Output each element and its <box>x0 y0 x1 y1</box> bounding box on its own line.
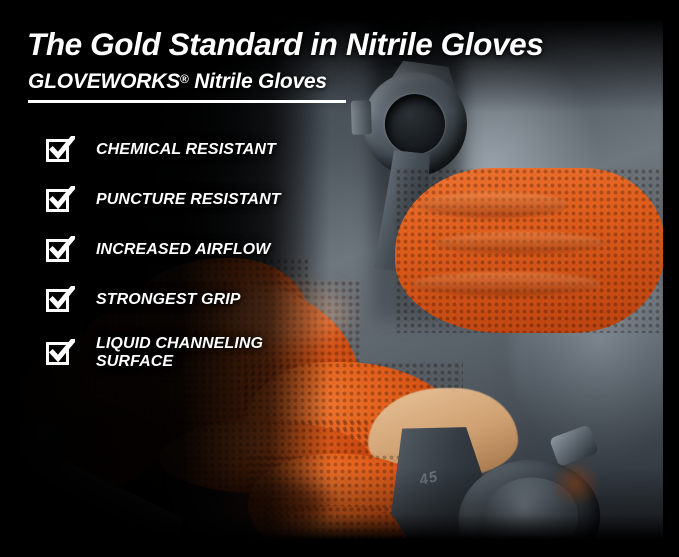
checked-checkbox-icon <box>46 339 75 368</box>
registered-trademark-icon: ® <box>180 72 189 86</box>
product-feature-banner: 45 The Gold Standard in Nitrile Gloves G… <box>0 0 679 557</box>
checkmark-icon <box>48 339 75 366</box>
list-item-label: LIQUID CHANNELING SURFACE <box>96 335 271 371</box>
list-item: STRONGEST GRIP <box>46 285 316 315</box>
brand-subtitle-group: GLOVEWORKS® Nitrile Gloves <box>28 70 346 103</box>
list-item-label: INCREASED AIRFLOW <box>96 241 270 259</box>
brand-subtitle-suffix: Nitrile Gloves <box>189 70 327 93</box>
banner-content: The Gold Standard in Nitrile Gloves GLOV… <box>0 0 679 557</box>
list-item: PUNCTURE RESISTANT <box>46 185 316 215</box>
brand-subtitle: GLOVEWORKS® Nitrile Gloves <box>28 70 346 94</box>
list-item: LIQUID CHANNELING SURFACE <box>46 335 316 371</box>
list-item: INCREASED AIRFLOW <box>46 235 316 265</box>
checkmark-icon <box>48 136 75 163</box>
checkmark-icon <box>48 236 75 263</box>
checked-checkbox-icon <box>46 286 75 315</box>
checked-checkbox-icon <box>46 236 75 265</box>
checked-checkbox-icon <box>46 186 75 215</box>
checkmark-icon <box>48 186 75 213</box>
list-item: CHEMICAL RESISTANT <box>46 135 316 165</box>
subtitle-underline <box>28 100 346 103</box>
brand-name: GLOVEWORKS <box>28 70 180 93</box>
checked-checkbox-icon <box>46 136 75 165</box>
list-item-label: CHEMICAL RESISTANT <box>96 141 276 159</box>
checkmark-icon <box>48 286 75 313</box>
list-item-label: STRONGEST GRIP <box>96 291 241 309</box>
list-item-label: PUNCTURE RESISTANT <box>96 191 281 209</box>
page-title: The Gold Standard in Nitrile Gloves <box>27 26 543 63</box>
feature-list: CHEMICAL RESISTANT PUNCTURE RESISTANT <box>46 135 316 371</box>
